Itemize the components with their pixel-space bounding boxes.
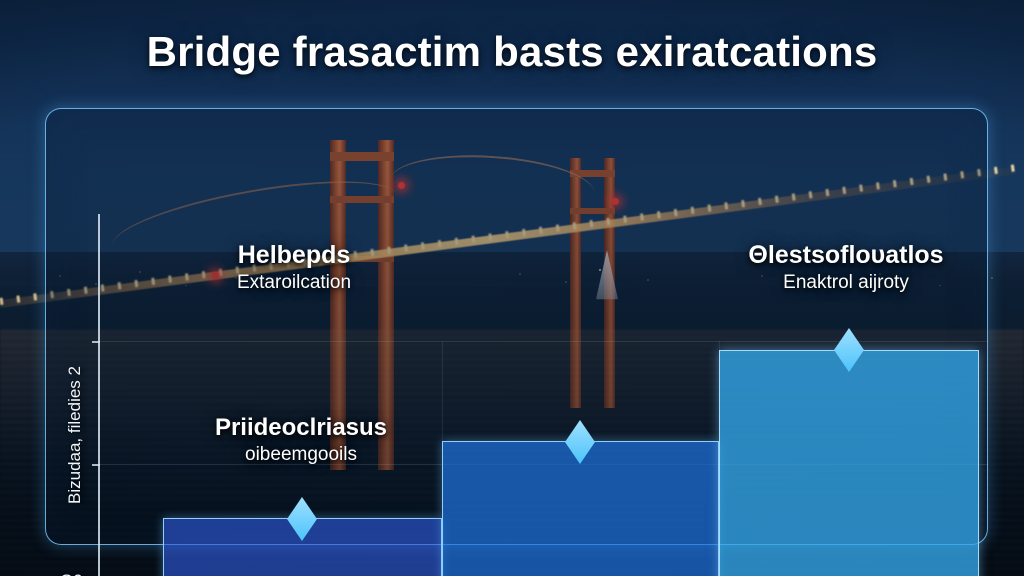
annotation-left-line2: Extaroilcation bbox=[164, 271, 424, 295]
annotation-left: Helbepds Extaroilcation bbox=[164, 242, 424, 295]
annotation-right-line1: Θlestsofloυatlos bbox=[696, 242, 996, 268]
y-axis-label: Bizudaa, filedies 2 bbox=[65, 310, 85, 560]
y-axis-tick-label: O0 bbox=[60, 571, 83, 576]
slide-canvas: Bridge frasactim basts exiratcations Biz… bbox=[0, 0, 1024, 576]
y-axis bbox=[98, 214, 100, 576]
annotation-left-line1: Helbepds bbox=[164, 242, 424, 268]
annotation-right: Θlestsofloυatlos Enaktrol aijroty bbox=[696, 242, 996, 295]
y-axis-tick bbox=[92, 341, 100, 343]
page-title: Bridge frasactim basts exiratcations bbox=[0, 28, 1024, 76]
bar-series-3[interactable] bbox=[719, 350, 979, 576]
annotation-middle-line1: Priideoclriasus bbox=[151, 415, 451, 440]
y-axis-tick bbox=[92, 464, 100, 466]
annotation-middle: Priideoclriasus oibeemgooils bbox=[151, 415, 451, 467]
annotation-middle-line2: oibeemgooils bbox=[151, 443, 451, 467]
chart-panel: Bizudaa, filedies 2 O0 Helbepds Extaroil… bbox=[45, 108, 988, 545]
annotation-right-line2: Enaktrol aijroty bbox=[696, 271, 996, 295]
